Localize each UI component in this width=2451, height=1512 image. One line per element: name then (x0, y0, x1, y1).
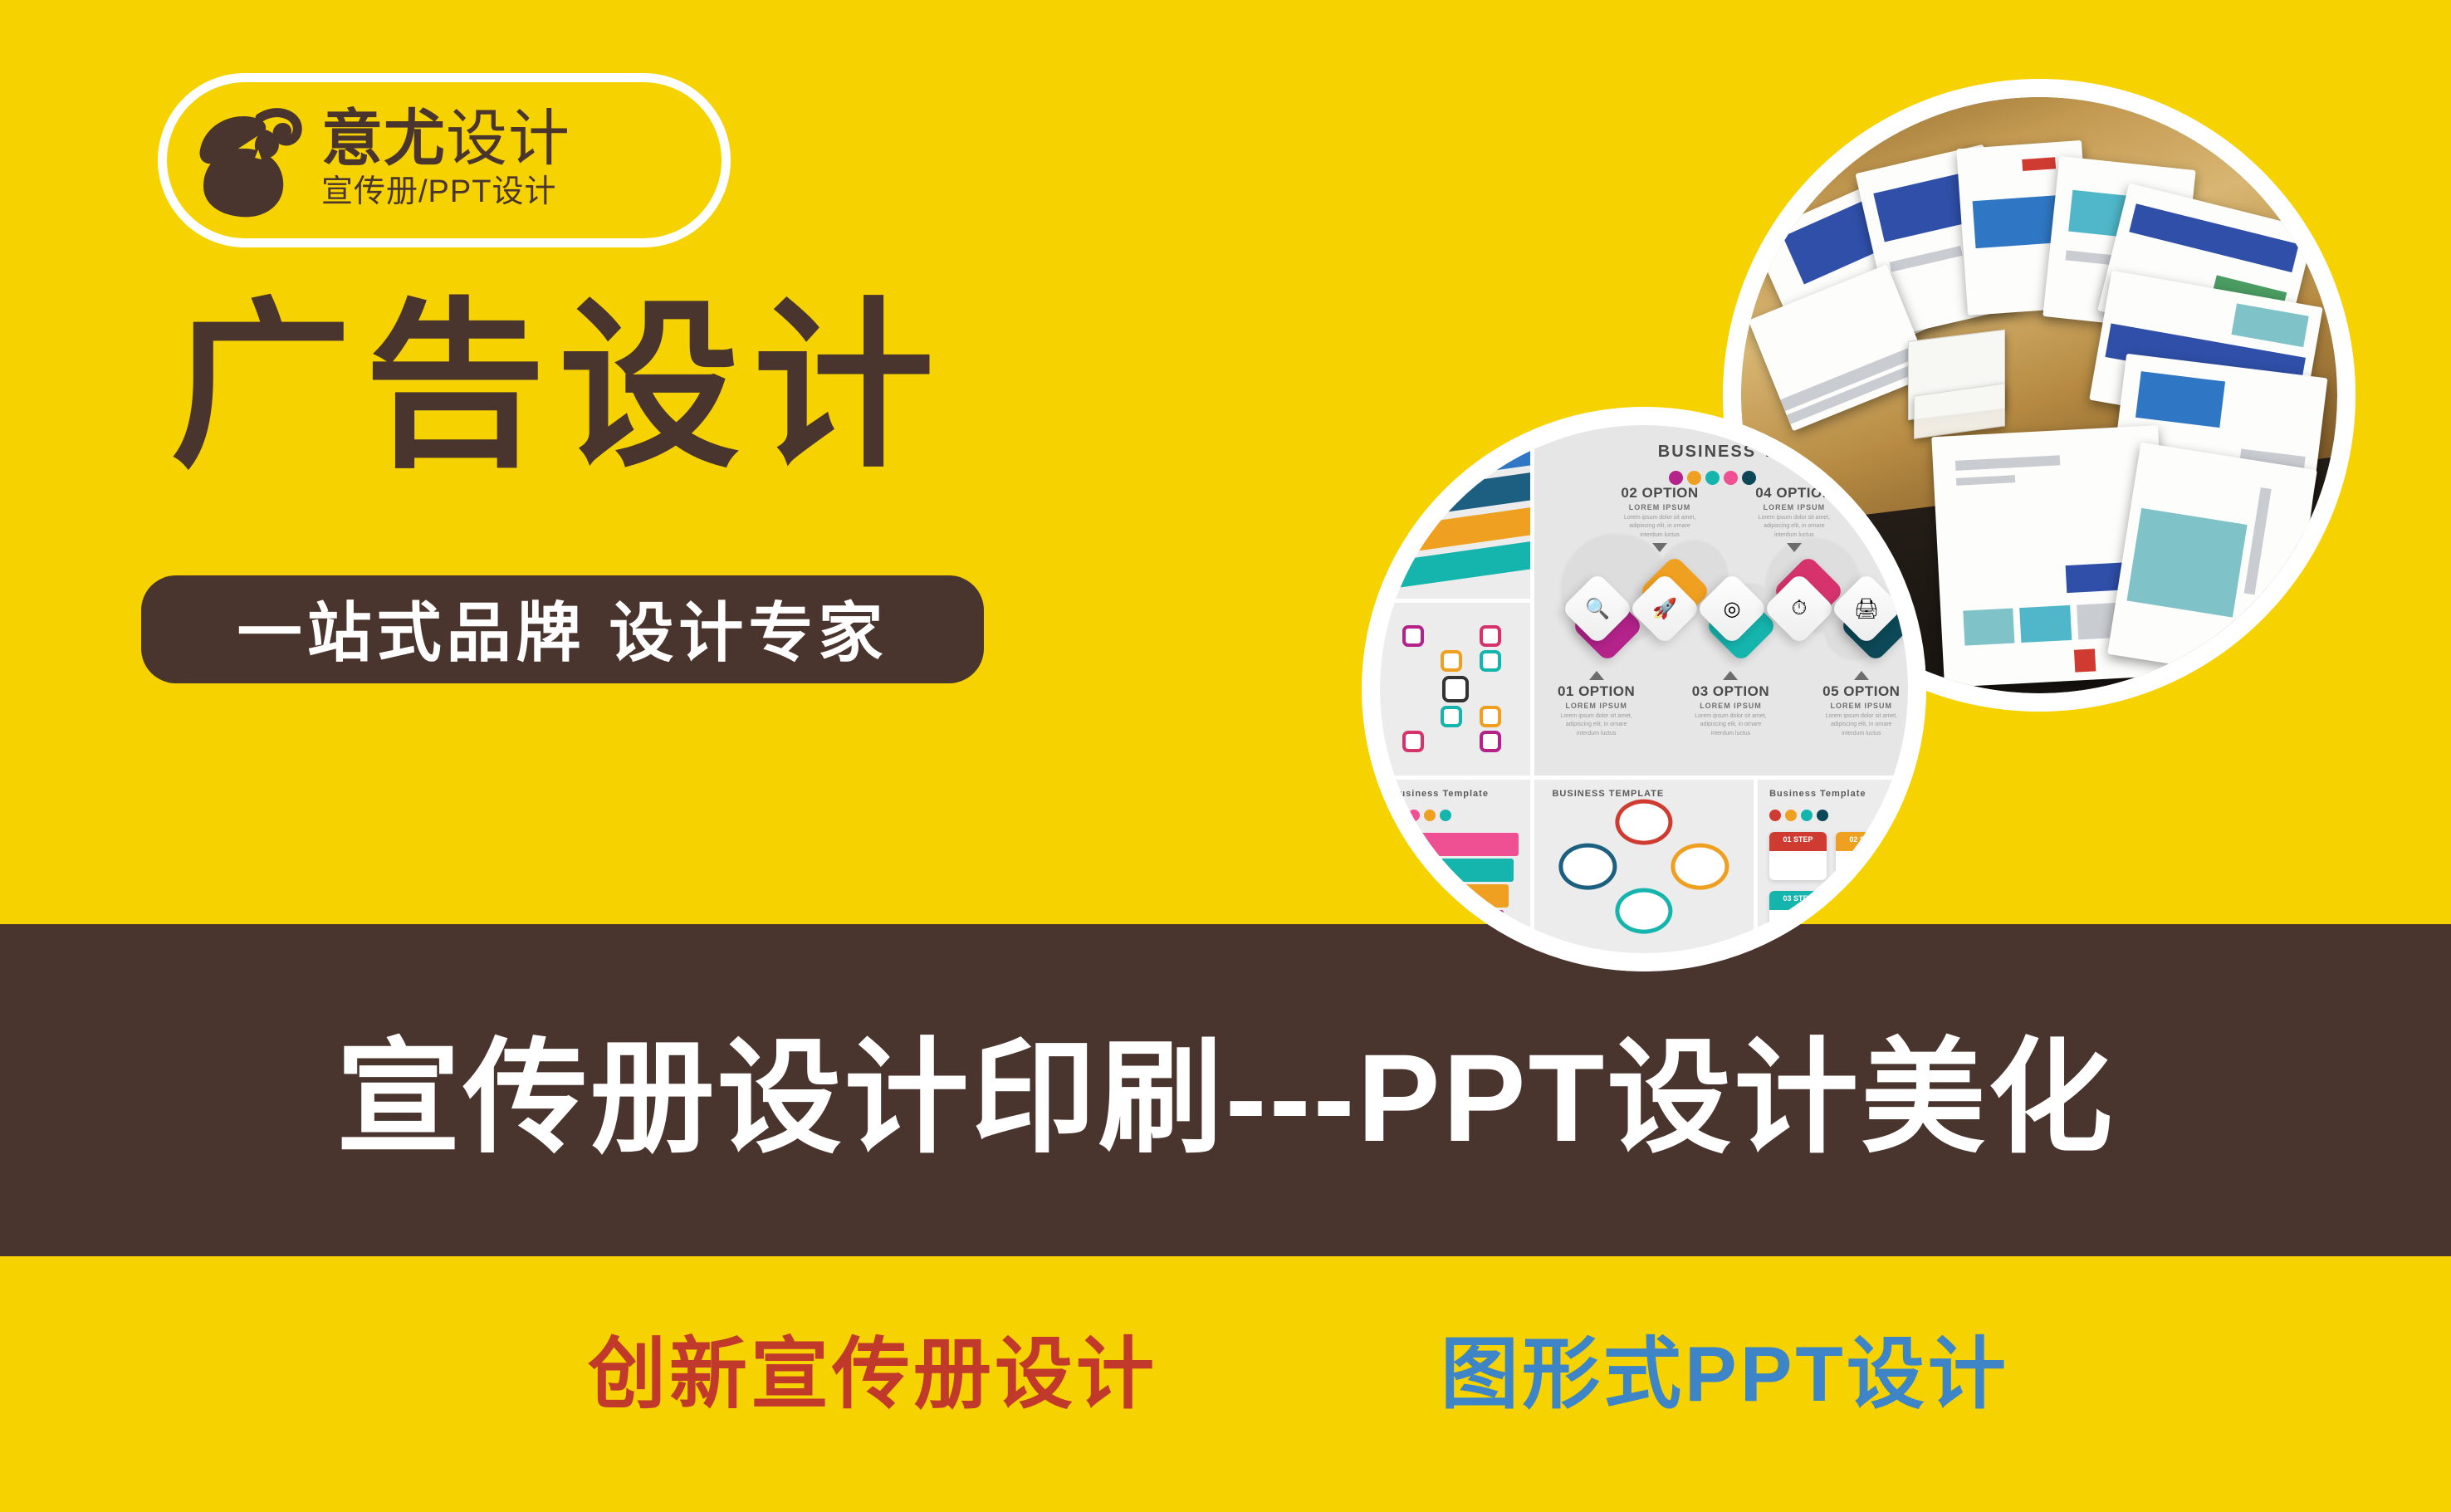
dot-pink (1724, 471, 1738, 485)
pyramid-chart (1392, 829, 1519, 936)
ppt-thumb-wheel: BUSINESS TEMPLATE (1534, 780, 1753, 953)
ppt-thumb-network (1380, 603, 1530, 776)
page-title: 广告设计 (170, 297, 947, 478)
option-body: Lorem ipsum dolor sit amet, adipiscing e… (1822, 712, 1901, 739)
magnifier-icon: 🔍 (1572, 583, 1623, 634)
ppt-hero-title: BUSINESS TEMPLATE (1658, 443, 1864, 462)
option-number: 02 OPTION (1621, 485, 1699, 502)
node-pink (1480, 625, 1501, 647)
node-pink-2 (1402, 731, 1424, 752)
wheel-node-04 (1558, 844, 1617, 889)
dot-magenta (1669, 471, 1683, 485)
dot-teal (1801, 810, 1813, 821)
pyramid-row-03 (1402, 884, 1509, 908)
node-orange (1441, 650, 1462, 672)
option-body: Lorem ipsum dolor sit amet, adipiscing e… (1755, 514, 1833, 541)
dot-orange (1424, 810, 1436, 821)
step-card-04: 04 STEP (1836, 891, 1893, 939)
step-card-01: 01 STEP (1769, 832, 1827, 880)
step-card-02: 02 STEP (1836, 832, 1893, 880)
ppt-option-05: 05 OPTION LOREM IPSUM Lorem ipsum dolor … (1822, 671, 1901, 739)
ppt-thumb-pyramid: Business Template (1380, 780, 1530, 953)
wheel-node-02 (1671, 844, 1729, 889)
option-body: Lorem ipsum dolor sit amet, adipiscing e… (1557, 712, 1635, 739)
option-label: LOREM IPSUM (1557, 702, 1635, 710)
dot-orange (1687, 471, 1701, 485)
step-label: 03 STEP (1769, 891, 1827, 910)
diamond-front-04: ⏱ (1763, 572, 1836, 645)
logo-name: 意尤设计 (321, 109, 570, 169)
node-orange-2 (1480, 706, 1501, 727)
pointer-down-icon (1652, 543, 1667, 552)
pointer-up-icon (1723, 671, 1738, 680)
option-label: LOREM IPSUM (1691, 702, 1769, 710)
dot-teal (1705, 471, 1720, 485)
logo-tagline: 宣传册/PPT设计 (321, 173, 570, 213)
ppt-thumb-steps: Business Template 01 STEP 02 STEP 0 (1758, 780, 1908, 953)
dot-pink (1408, 810, 1420, 821)
bird-leaf-mark-icon (188, 98, 313, 223)
diamond-front-03: ◎ (1695, 572, 1769, 645)
step-label: 02 STEP (1836, 832, 1893, 851)
ppt-infographic-templates: BUSINESS TEMPLATE 02 OPTION LOREM IPSUM … (1362, 407, 1926, 971)
banner-canvas: 意尤设计 宣传册/PPT设计 广告设计 一站式品牌 设计专家 (0, 0, 2451, 1512)
step-label: 01 STEP (1769, 832, 1827, 851)
brand-logo[interactable]: 意尤设计 宣传册/PPT设计 (158, 73, 731, 247)
option-body: Lorem ipsum dolor sit amet, adipiscing e… (1621, 514, 1699, 541)
footer-strip: 创新宣传册设计 图形式PPT设计 (0, 1256, 2451, 1512)
dot-teal (1440, 810, 1451, 821)
pointer-up-icon (1589, 671, 1604, 680)
tagline-pill-text: 一站式品牌 设计专家 (237, 581, 888, 674)
thumb-title: Business Template (1392, 789, 1489, 799)
pointer-up-icon (1854, 671, 1869, 680)
option-label: LOREM IPSUM (1621, 503, 1699, 511)
headline-band-text: 宣传册设计印刷---PPT设计美化 (336, 997, 2116, 1177)
option-number: 03 OPTION (1691, 683, 1769, 700)
footer-label-brochure: 创新宣传册设计 (588, 1311, 1157, 1424)
node-teal (1480, 650, 1501, 672)
network-diagram (1395, 620, 1515, 759)
dot-navy (1817, 810, 1828, 821)
pyramid-row-02 (1397, 859, 1514, 882)
brochure-right (2107, 443, 2317, 683)
dot-navy (1742, 471, 1756, 485)
dot-red (1769, 810, 1781, 821)
target-icon: ◎ (1706, 583, 1758, 634)
ppt-hero-dots (1669, 471, 1756, 485)
option-number: 04 OPTION (1755, 485, 1833, 502)
pointer-down-icon (1787, 543, 1802, 552)
node-teal-2 (1441, 706, 1462, 727)
ppt-clip: BUSINESS TEMPLATE 02 OPTION LOREM IPSUM … (1380, 425, 1908, 953)
node-magenta (1402, 625, 1424, 647)
pyramid-row-04 (1407, 910, 1504, 933)
pyramid-row-01 (1392, 833, 1519, 856)
thumb-title: Business Template (1769, 789, 1866, 799)
dot-orange (1785, 810, 1797, 821)
ppt-option-02: 02 OPTION LOREM IPSUM Lorem ipsum dolor … (1621, 485, 1699, 553)
dot-magenta (1392, 810, 1404, 821)
option-label: LOREM IPSUM (1755, 503, 1833, 511)
ppt-option-04: 04 OPTION LOREM IPSUM Lorem ipsum dolor … (1755, 485, 1833, 553)
step-card-03: 03 STEP (1769, 891, 1827, 939)
diamond-front-05: 🖨 (1830, 572, 1903, 645)
node-magenta-2 (1480, 731, 1501, 752)
footer-label-ppt: 图形式PPT设计 (1441, 1311, 2009, 1424)
wheel-node-01 (1615, 799, 1673, 844)
ppt-thumb-banners (1380, 425, 1530, 599)
headline-band: 宣传册设计印刷---PPT设计美化 (0, 924, 2451, 1256)
logo-wordmark: 意尤设计 宣传册/PPT设计 (321, 109, 570, 212)
network-center-node (1442, 676, 1469, 702)
step-label: 04 STEP (1836, 891, 1893, 910)
logo-name-bold: 意尤 (321, 104, 446, 173)
print-icon: 🖨 (1841, 583, 1892, 634)
ppt-slide-grid: BUSINESS TEMPLATE 02 OPTION LOREM IPSUM … (1380, 425, 1908, 953)
clock-icon: ⏱ (1773, 583, 1825, 634)
ppt-option-01: 01 OPTION LOREM IPSUM Lorem ipsum dolor … (1557, 671, 1635, 739)
option-number: 01 OPTION (1557, 683, 1635, 700)
option-number: 05 OPTION (1822, 683, 1901, 700)
thumb-title: BUSINESS TEMPLATE (1552, 789, 1664, 799)
tagline-pill: 一站式品牌 设计专家 (141, 575, 984, 683)
thumb-dots (1769, 810, 1828, 821)
logo-name-light: 设计 (446, 104, 570, 173)
ppt-hero-slide: BUSINESS TEMPLATE 02 OPTION LOREM IPSUM … (1534, 425, 1908, 776)
wheel-node-03 (1615, 888, 1673, 934)
ppt-option-03: 03 OPTION LOREM IPSUM Lorem ipsum dolor … (1691, 671, 1769, 739)
option-body: Lorem ipsum dolor sit amet, adipiscing e… (1691, 712, 1769, 739)
option-label: LOREM IPSUM (1822, 702, 1901, 710)
thumb-dots (1392, 810, 1451, 821)
wheel-diagram (1558, 799, 1729, 934)
rocket-icon: 🚀 (1639, 583, 1690, 634)
